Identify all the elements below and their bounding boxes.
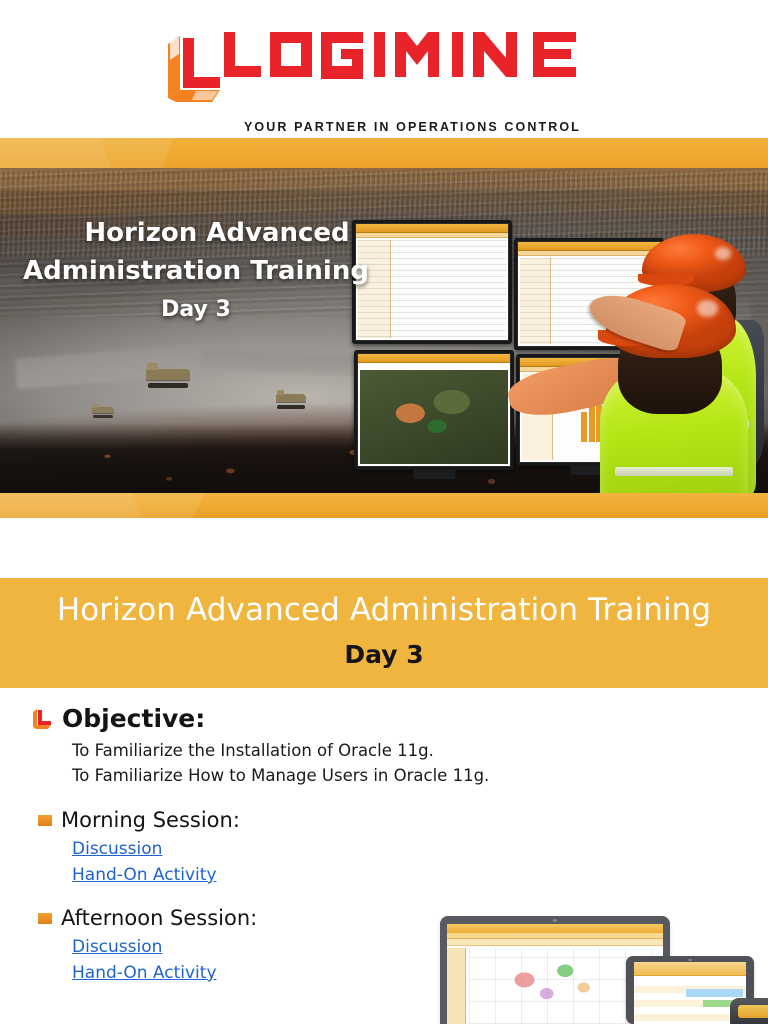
session-link-list: Discussion Hand-On Activity bbox=[72, 837, 240, 889]
content-area: Objective: To Familiarize the Installati… bbox=[0, 696, 768, 1024]
banner-headline-line1: Horizon Advanced bbox=[0, 218, 392, 249]
worker-foreground bbox=[556, 268, 768, 496]
banner-headline-line3: Day 3 bbox=[0, 297, 392, 322]
logimine-l-mark-icon bbox=[166, 34, 222, 108]
orange-square-bullet-icon bbox=[38, 913, 52, 924]
banner-top-accent-bar bbox=[0, 138, 768, 168]
banner-bottom-accent-bar bbox=[0, 493, 768, 518]
banner-headline: Horizon Advanced Administration Training… bbox=[0, 218, 392, 322]
document-page: YOUR PARTNER IN OPERATIONS CONTROL bbox=[0, 0, 768, 1024]
haul-truck-icon bbox=[146, 369, 190, 386]
logimine-wordmark bbox=[224, 30, 590, 90]
session-link-discussion[interactable]: Discussion bbox=[72, 935, 257, 961]
session-link-hands-on-activity[interactable]: Hand-On Activity bbox=[72, 863, 240, 889]
monitor-bottom-left bbox=[354, 350, 514, 470]
session-title: Morning Session: bbox=[61, 808, 240, 832]
haul-truck-icon bbox=[276, 394, 306, 407]
afternoon-session: Afternoon Session: Discussion Hand-On Ac… bbox=[38, 906, 257, 987]
page-subtitle: Day 3 bbox=[0, 640, 768, 669]
objective-line: To Familiarize the Installation of Oracl… bbox=[72, 741, 434, 760]
session-heading: Morning Session: bbox=[38, 808, 240, 832]
session-heading: Afternoon Session: bbox=[38, 906, 257, 930]
objective-heading: Objective: bbox=[32, 704, 205, 733]
rugged-handheld-mockup bbox=[730, 998, 768, 1024]
logimine-l-bullet-icon bbox=[32, 708, 52, 730]
session-title: Afternoon Session: bbox=[61, 906, 257, 930]
objective-title: Objective: bbox=[62, 704, 205, 733]
banner-headline-line2: Administration Training bbox=[0, 256, 392, 287]
session-link-list: Discussion Hand-On Activity bbox=[72, 935, 257, 987]
logimine-logo: YOUR PARTNER IN OPERATIONS CONTROL bbox=[166, 34, 590, 108]
morning-session: Morning Session: Discussion Hand-On Acti… bbox=[38, 808, 240, 889]
orange-square-bullet-icon bbox=[38, 815, 52, 826]
title-block: Horizon Advanced Administration Training… bbox=[0, 578, 768, 688]
page-title: Horizon Advanced Administration Training bbox=[0, 592, 768, 628]
logo-tagline: YOUR PARTNER IN OPERATIONS CONTROL bbox=[244, 120, 581, 134]
device-mockup-group bbox=[434, 912, 768, 1024]
hero-banner: Horizon Advanced Administration Training… bbox=[0, 138, 768, 518]
objective-line: To Familiarize How to Manage Users in Or… bbox=[72, 766, 489, 785]
logo-header: YOUR PARTNER IN OPERATIONS CONTROL bbox=[0, 0, 768, 138]
session-link-discussion[interactable]: Discussion bbox=[72, 837, 240, 863]
banner-photo: Horizon Advanced Administration Training… bbox=[0, 164, 768, 496]
haul-truck-icon bbox=[92, 407, 114, 417]
session-link-hands-on-activity[interactable]: Hand-On Activity bbox=[72, 961, 257, 987]
